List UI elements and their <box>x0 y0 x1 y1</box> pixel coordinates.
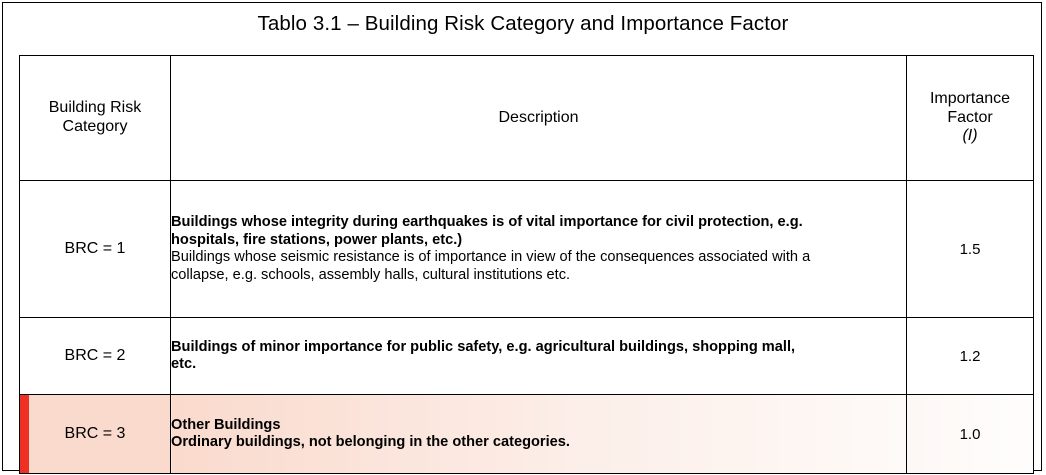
header-importance-factor: Importance Factor (I) <box>907 56 1034 181</box>
row-2-description: Buildings of minor importance for public… <box>171 318 907 395</box>
row-3-importance-factor: 1.0 <box>907 395 1034 474</box>
table-header-row: Building Risk Category Description Impor… <box>20 56 1034 181</box>
page-title: Tablo 3.1 – Building Risk Category and I… <box>3 12 1043 36</box>
highlight-marker-icon <box>20 395 29 473</box>
row-1-description: Buildings whose integrity during earthqu… <box>171 181 907 318</box>
table-row: BRC = 1 Buildings whose integrity during… <box>20 181 1034 318</box>
row-3-category-label: BRC = 3 <box>65 425 126 442</box>
page-frame: Tablo 3.1 – Building Risk Category and I… <box>2 2 1042 471</box>
row-2-category: BRC = 2 <box>20 318 171 395</box>
row-1-desc-bold-line-1: Buildings whose integrity during earthqu… <box>171 214 906 232</box>
row-3-desc-bold-line-2: Ordinary buildings, not belonging in the… <box>171 434 906 452</box>
row-1-desc-bold-line-2: hospitals, fire stations, power plants, … <box>171 232 906 250</box>
row-1-desc-normal-line-2: collapse, e.g. schools, assembly halls, … <box>171 267 906 285</box>
header-importance-line-1: Importance <box>907 90 1033 109</box>
row-3-description: Other Buildings Ordinary buildings, not … <box>171 395 907 474</box>
row-3-category: BRC = 3 <box>20 395 171 474</box>
row-1-desc-normal-line-1: Buildings whose seismic resistance is of… <box>171 249 906 267</box>
header-importance-symbol: (I) <box>907 127 1033 146</box>
header-brc-line-1: Building Risk <box>20 99 170 118</box>
header-importance-line-2: Factor <box>907 109 1033 128</box>
header-building-risk-category: Building Risk Category <box>20 56 171 181</box>
table-row: BRC = 2 Buildings of minor importance fo… <box>20 318 1034 395</box>
row-2-desc-bold-line-1: Buildings of minor importance for public… <box>171 339 906 357</box>
row-2-importance-factor: 1.2 <box>907 318 1034 395</box>
row-3-desc-bold-line-1: Other Buildings <box>171 417 906 435</box>
header-brc-line-2: Category <box>20 118 170 137</box>
building-risk-category-table: Building Risk Category Description Impor… <box>19 55 1034 474</box>
table-row-highlighted: BRC = 3 Other Buildings Ordinary buildin… <box>20 395 1034 474</box>
header-description: Description <box>171 56 907 181</box>
row-1-importance-factor: 1.5 <box>907 181 1034 318</box>
row-2-desc-bold-line-2: etc. <box>171 356 906 374</box>
row-1-category: BRC = 1 <box>20 181 171 318</box>
